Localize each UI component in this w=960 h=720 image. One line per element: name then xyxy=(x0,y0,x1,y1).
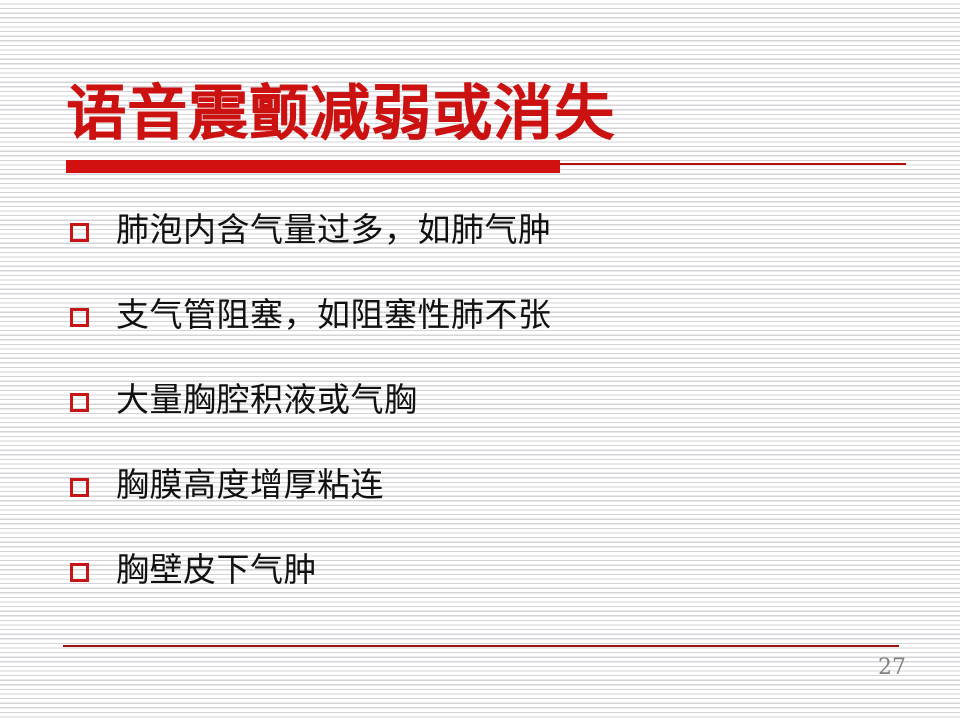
hollow-square-bullet-icon xyxy=(70,478,89,497)
list-item: 支气管阻塞，如阻塞性肺不张 xyxy=(70,291,930,376)
list-item-label: 胸壁皮下气肿 xyxy=(116,546,930,594)
list-item: 肺泡内含气量过多，如肺气肿 xyxy=(70,206,930,291)
list-item-label: 胸膜高度增厚粘连 xyxy=(116,461,930,509)
list-item: 大量胸腔积液或气胸 xyxy=(70,376,930,461)
title-underline-thick xyxy=(66,160,560,173)
footer-divider xyxy=(63,645,899,647)
list-item: 胸壁皮下气肿 xyxy=(70,546,930,631)
hollow-square-bullet-icon xyxy=(70,563,89,582)
page-number: 27 xyxy=(878,655,906,680)
hollow-square-bullet-icon xyxy=(70,223,89,242)
list-item-label: 支气管阻塞，如阻塞性肺不张 xyxy=(116,291,930,339)
hollow-square-bullet-icon xyxy=(70,393,89,412)
list-item-label: 大量胸腔积液或气胸 xyxy=(116,376,930,424)
page-title: 语音震颤减弱或消失 xyxy=(66,78,906,150)
slide-canvas: 语音震颤减弱或消失 肺泡内含气量过多，如肺气肿 支气管阻塞，如阻塞性肺不张 大量… xyxy=(0,0,960,720)
slide-title-block: 语音震颤减弱或消失 xyxy=(66,78,906,154)
bullet-list: 肺泡内含气量过多，如肺气肿 支气管阻塞，如阻塞性肺不张 大量胸腔积液或气胸 胸膜… xyxy=(70,206,930,631)
list-item-label: 肺泡内含气量过多，如肺气肿 xyxy=(116,206,930,254)
list-item: 胸膜高度增厚粘连 xyxy=(70,461,930,546)
hollow-square-bullet-icon xyxy=(70,308,89,327)
